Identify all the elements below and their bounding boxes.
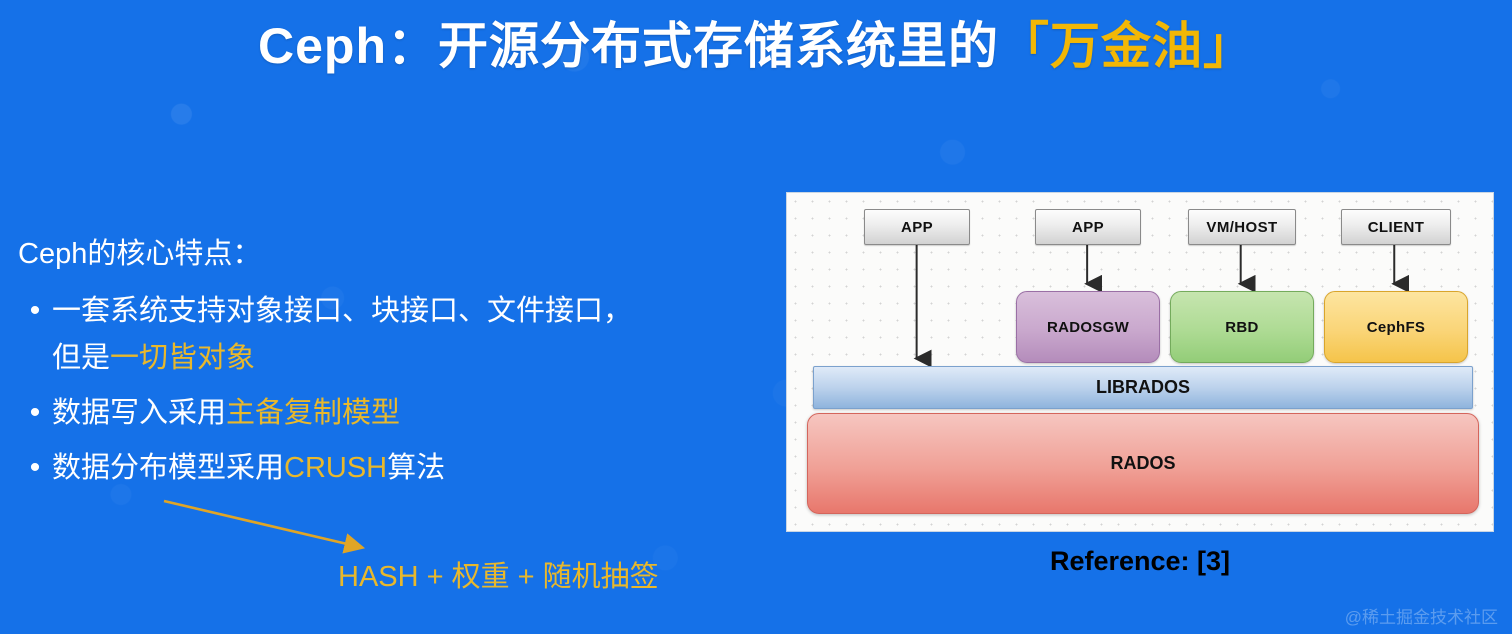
- page-title: Ceph：开源分布式存储系统里的「万金油」: [0, 6, 1512, 78]
- feature-list-column: Ceph的核心特点： • 一套系统支持对象接口、块接口、文件接口， 但是一切皆对…: [18, 236, 718, 500]
- bullet-2-plain-before: 数据写入采用: [52, 397, 226, 429]
- bullet-1-line-2: 但是一切皆对象: [52, 335, 632, 382]
- bullet-marker-icon: •: [18, 390, 52, 436]
- bullet-1-text: 一套系统支持对象接口、块接口、文件接口， 但是一切皆对象: [52, 288, 632, 382]
- bullet-1-line-1: 一套系统支持对象接口、块接口、文件接口，: [52, 288, 632, 335]
- diagram-bar-rados: RADOS: [807, 413, 1479, 514]
- diagram-box-cephfs: CephFS: [1324, 291, 1468, 363]
- bullet-1-line-2-accent: 一切皆对象: [110, 342, 255, 374]
- bullet-1-line-2-plain: 但是: [52, 342, 110, 374]
- feature-list-heading: Ceph的核心特点：: [18, 236, 718, 272]
- diagram-box-radosgw: RADOSGW: [1016, 291, 1160, 363]
- diagram-box-vm-host: VM/HOST: [1188, 209, 1296, 245]
- ceph-architecture-diagram: APP APP VM/HOST CLIENT RADOSGW RBD CephF…: [786, 192, 1494, 532]
- crush-annotation-text: HASH + 权重 + 随机抽签: [338, 553, 659, 595]
- diagram-bar-librados: LIBRADOS: [813, 366, 1473, 409]
- list-item: • 数据写入采用主备复制模型: [18, 390, 718, 437]
- bullet-3-plain-after: 算法: [387, 452, 445, 484]
- title-prefix: Ceph：开源分布式存储系统里的: [258, 18, 999, 74]
- reference-caption: Reference: [3]: [786, 546, 1494, 577]
- slide-canvas: Ceph：开源分布式存储系统里的「万金油」 Ceph的核心特点： • 一套系统支…: [0, 0, 1512, 634]
- bullet-3-text: 数据分布模型采用CRUSH算法: [52, 445, 445, 492]
- list-item: • 数据分布模型采用CRUSH算法: [18, 445, 718, 492]
- bullet-marker-icon: •: [18, 445, 52, 491]
- site-watermark: @稀土掘金技术社区: [1345, 603, 1498, 628]
- diagram-box-client: CLIENT: [1341, 209, 1451, 245]
- bullet-3-plain-before: 数据分布模型采用: [52, 452, 284, 484]
- bullet-2-text: 数据写入采用主备复制模型: [52, 390, 400, 437]
- diagram-box-app-2: APP: [1035, 209, 1141, 245]
- title-accent: 「万金油」: [999, 18, 1254, 74]
- list-item: • 一套系统支持对象接口、块接口、文件接口， 但是一切皆对象: [18, 288, 718, 382]
- bullet-3-accent: CRUSH: [284, 452, 387, 484]
- bullet-2-accent: 主备复制模型: [226, 397, 400, 429]
- diagram-box-rbd: RBD: [1170, 291, 1314, 363]
- bullet-marker-icon: •: [18, 288, 52, 334]
- diagram-box-app-1: APP: [864, 209, 970, 245]
